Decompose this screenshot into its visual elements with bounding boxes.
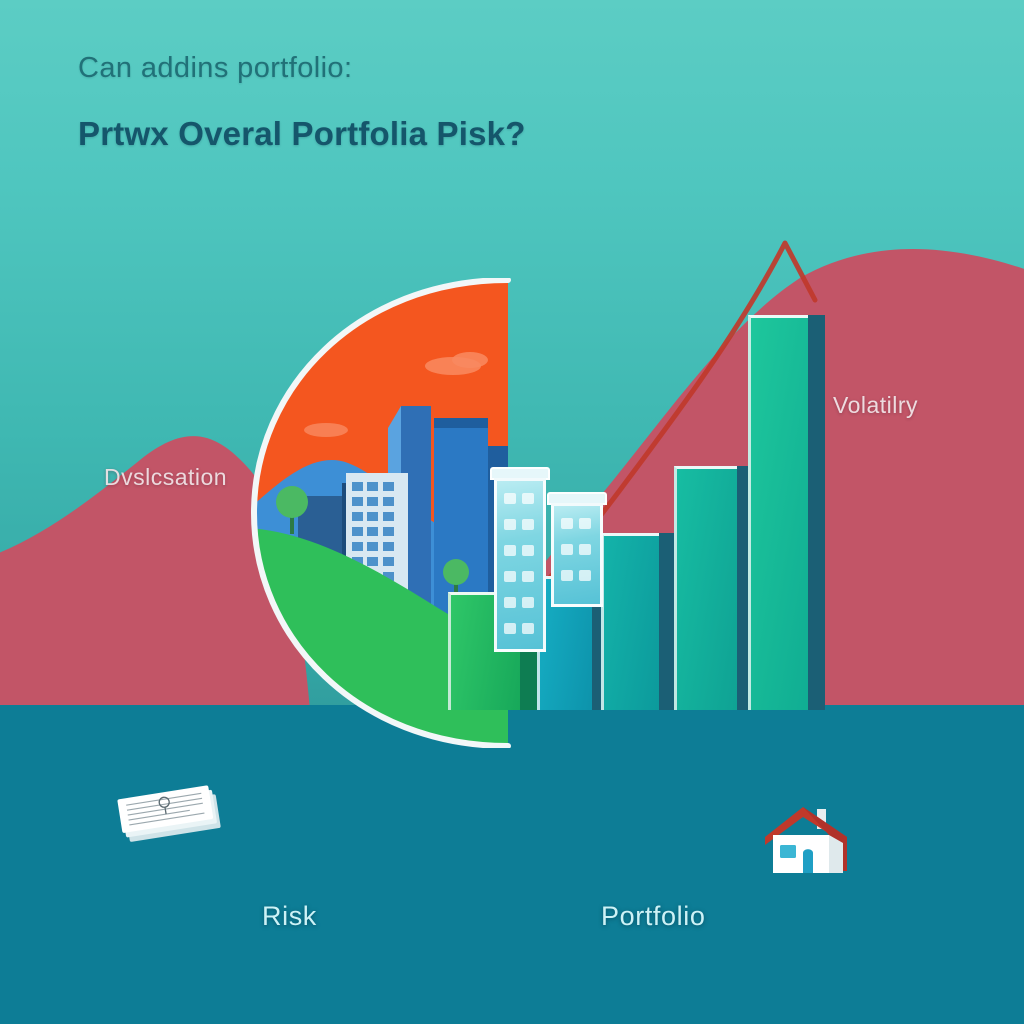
label-portfolio: Portfolio: [601, 901, 705, 932]
bar-5-face: [748, 315, 808, 710]
label-volatility: Volatilry: [833, 392, 918, 419]
bar-4: [674, 466, 737, 710]
bar-5: [748, 315, 808, 710]
bar-3: [601, 533, 659, 710]
label-diversification: Dvslcsation: [104, 464, 227, 491]
label-risk: Risk: [262, 901, 317, 932]
glass-tower-1: [494, 478, 546, 652]
water-ground: [0, 705, 1024, 1024]
bar-4-face: [674, 466, 737, 710]
glass-tower-2: [551, 503, 603, 607]
house-icon: [759, 801, 855, 879]
bar-5-side: [808, 315, 825, 710]
kicker-text: Can addins portfolio:: [78, 52, 352, 85]
page-title: Prtwx Overal Portfolia Pisk?: [78, 115, 526, 153]
tower-2-body: [551, 503, 603, 607]
bar-3-face: [601, 533, 659, 710]
documents-stack-icon: [110, 779, 236, 847]
illustration-canvas: Can addins portfolio: Prtwx Overal Portf…: [0, 0, 1024, 1024]
tower-1-body: [494, 478, 546, 652]
